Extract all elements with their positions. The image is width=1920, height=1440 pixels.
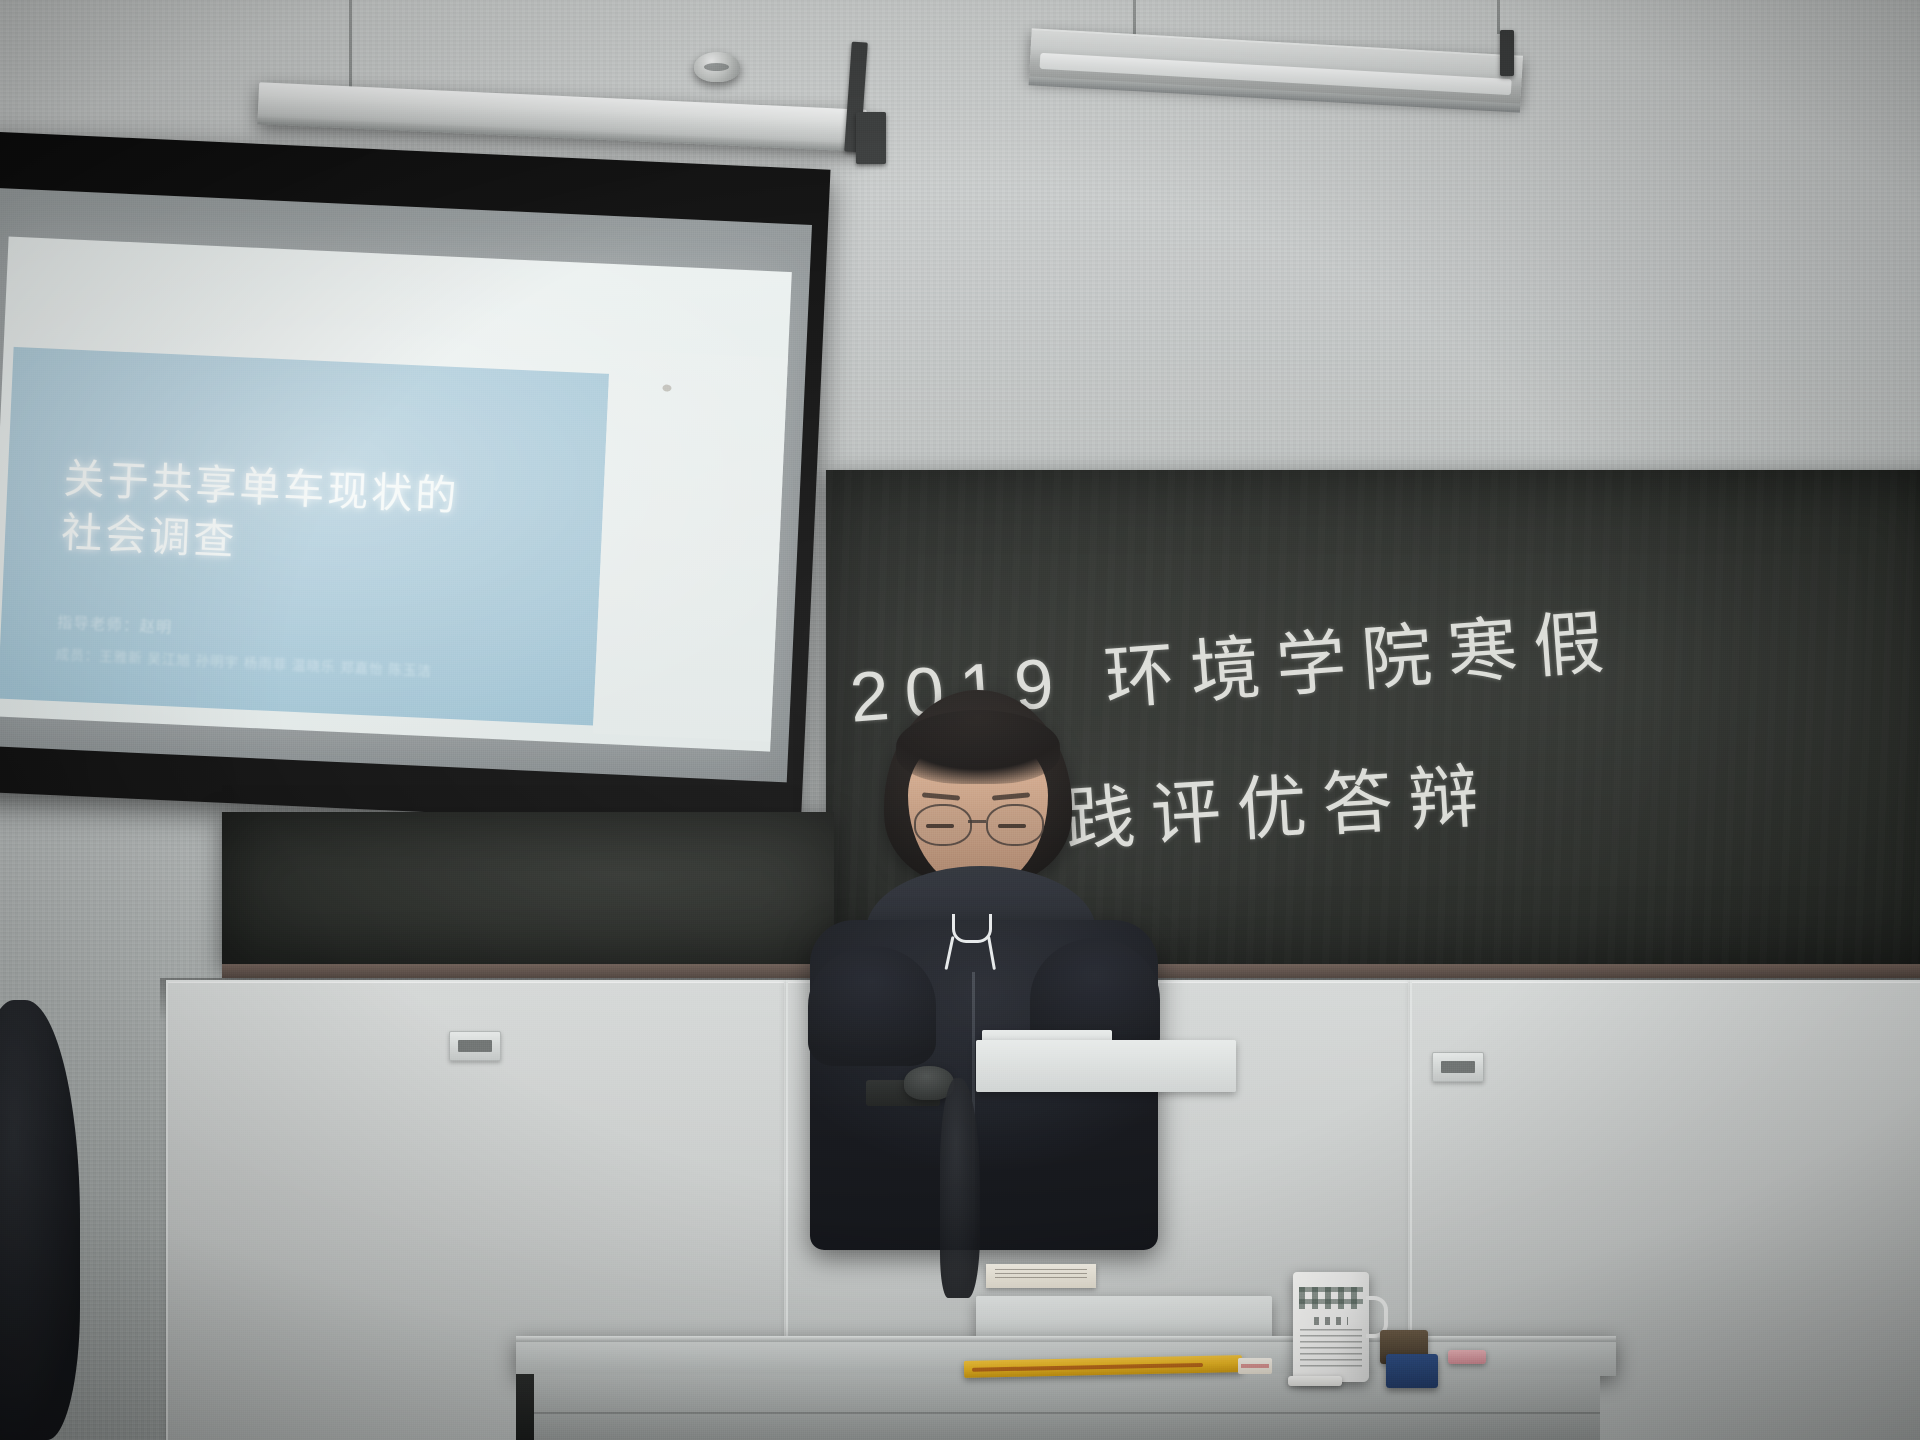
scene-lighting [0,0,1920,1440]
classroom-scene: 关于共享单车现状的 社会调查 指导老师：赵明 成员：王雅新 吴江旭 孙明宇 杨雨… [0,0,1920,1440]
